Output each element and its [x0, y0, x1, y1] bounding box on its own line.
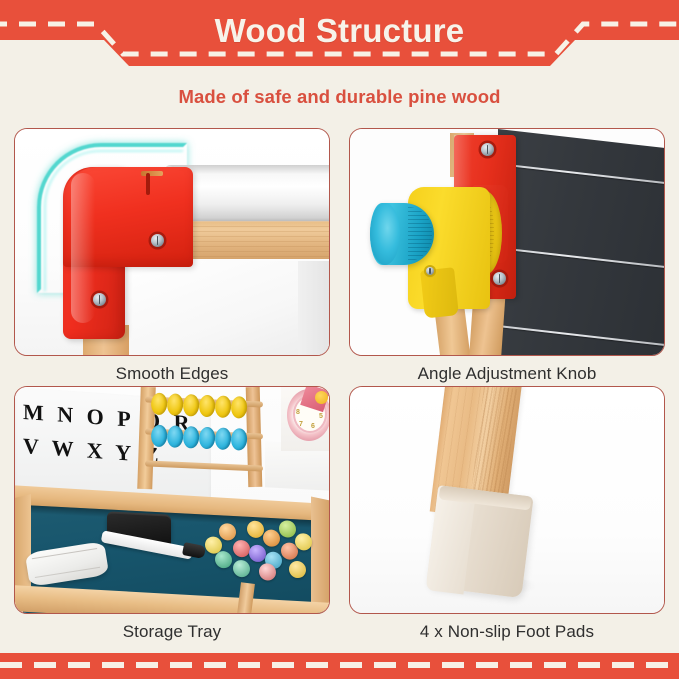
page-title: Wood Structure	[0, 12, 679, 50]
caption-foot-pads: 4 x Non-slip Foot Pads	[349, 620, 665, 644]
footer-bar	[0, 653, 679, 679]
page-subtitle: Made of safe and durable pine wood	[0, 86, 679, 108]
feature-card-smooth-edges: Smooth Edges	[14, 128, 330, 386]
photo-storage-tray: M N O P Q R V W X Y Z 9 8 7 6 5	[14, 386, 330, 614]
footer-dashed-line	[0, 662, 679, 668]
whiteboard-edge	[298, 261, 330, 356]
screw-icon	[151, 234, 164, 247]
feature-card-storage-tray: M N O P Q R V W X Y Z 9 8 7 6 5	[14, 386, 330, 644]
yellow-bracket-arm	[420, 267, 459, 318]
bracket-highlight	[71, 173, 95, 323]
photo-angle-knob	[349, 128, 665, 356]
feature-card-angle-knob: Angle Adjustment Knob	[349, 128, 665, 386]
screw-icon	[93, 293, 106, 306]
abacus-beads-blue	[150, 425, 263, 457]
screw-icon	[481, 143, 494, 156]
screw-icon	[493, 272, 506, 285]
caption-angle-knob: Angle Adjustment Knob	[349, 362, 665, 386]
bracket-pin	[141, 171, 163, 176]
screw-icon	[426, 267, 434, 275]
caption-smooth-edges: Smooth Edges	[14, 362, 330, 386]
knob-face	[370, 203, 400, 265]
feature-grid: Smooth Edges Angle Adjustment	[14, 128, 665, 638]
photo-smooth-edges	[14, 128, 330, 356]
caption-storage-tray: Storage Tray	[14, 620, 330, 644]
photo-foot-pads	[349, 386, 665, 614]
abacus-beads-yellow	[150, 393, 263, 425]
bracket-notch	[146, 173, 150, 195]
magnetic-letters	[203, 512, 315, 580]
chalkboard-panel	[498, 129, 665, 356]
clock-center-dot	[315, 391, 328, 404]
feature-card-foot-pads: 4 x Non-slip Foot Pads	[349, 386, 665, 644]
